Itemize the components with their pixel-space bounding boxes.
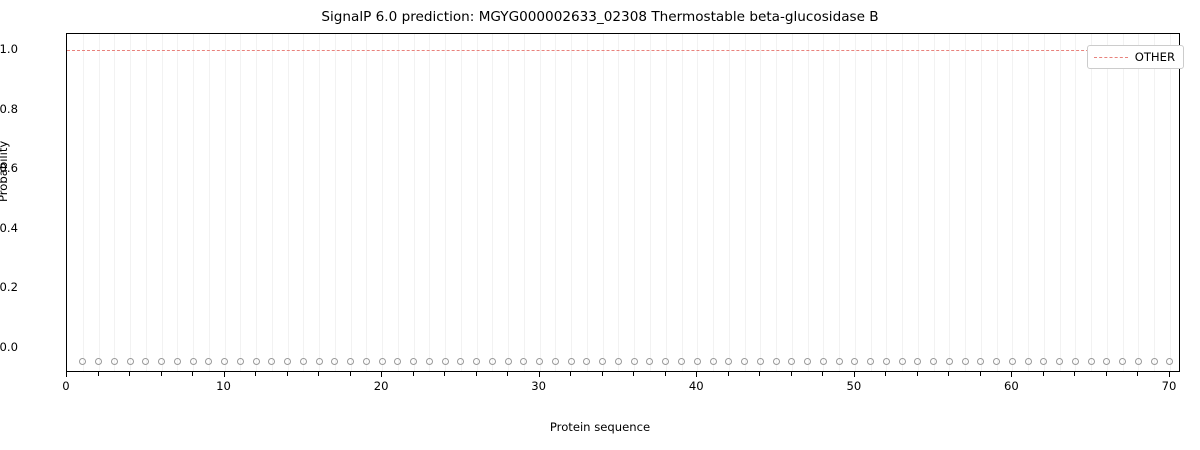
residue-marker xyxy=(489,358,496,365)
residue-letter: E xyxy=(189,369,196,372)
gridline xyxy=(1044,34,1045,371)
x-minor-tick xyxy=(822,372,823,376)
x-axis-label: Protein sequence xyxy=(0,420,1200,434)
gridline xyxy=(1154,34,1155,371)
gridline xyxy=(886,34,887,371)
residue-letter: D xyxy=(126,369,135,372)
gridline xyxy=(839,34,840,371)
gridline xyxy=(303,34,304,371)
residue-letter: M xyxy=(676,369,686,372)
residue-letter: A xyxy=(1056,369,1064,372)
residue-marker xyxy=(552,358,559,365)
residue-letter: S xyxy=(1166,369,1173,372)
residue-letter: D xyxy=(519,369,528,372)
residue-marker xyxy=(300,358,307,365)
residue-marker xyxy=(977,358,984,365)
gridline xyxy=(524,34,525,371)
gridline xyxy=(335,34,336,371)
residue-letter: T xyxy=(1072,369,1079,372)
signalp-prediction-figure: SignalP 6.0 prediction: MGYG000002633_02… xyxy=(0,0,1200,450)
gridline xyxy=(776,34,777,371)
residue-letter: G xyxy=(929,369,938,372)
residue-marker xyxy=(820,358,827,365)
gridline xyxy=(209,34,210,371)
gridline xyxy=(540,34,541,371)
gridline xyxy=(729,34,730,371)
residue-letter: E xyxy=(284,369,291,372)
residue-marker xyxy=(1025,358,1032,365)
residue-marker xyxy=(174,358,181,365)
residue-letter: H xyxy=(472,369,481,372)
gridline xyxy=(177,34,178,371)
gridline xyxy=(492,34,493,371)
y-tick-label: 0.8 xyxy=(0,102,18,116)
gridline xyxy=(1075,34,1076,371)
y-tick xyxy=(66,348,67,349)
x-minor-tick xyxy=(444,372,445,376)
residue-marker xyxy=(505,358,512,365)
x-minor-tick xyxy=(287,372,288,376)
residue-marker xyxy=(741,358,748,365)
gridline xyxy=(414,34,415,371)
x-tick xyxy=(1011,372,1012,377)
x-minor-tick xyxy=(791,372,792,376)
x-minor-tick xyxy=(318,372,319,376)
residue-marker xyxy=(1009,358,1016,365)
residue-letter: I xyxy=(963,369,966,372)
x-tick-label: 30 xyxy=(531,379,546,393)
gridline xyxy=(1107,34,1108,371)
residue-letter: P xyxy=(741,369,748,372)
gridline xyxy=(823,34,824,371)
residue-letter: H xyxy=(756,369,765,372)
residue-letter: K xyxy=(898,369,906,372)
gridline xyxy=(508,34,509,371)
residue-marker xyxy=(1135,358,1142,365)
residue-marker xyxy=(1056,358,1063,365)
residue-marker xyxy=(710,358,717,365)
gridline xyxy=(1123,34,1124,371)
gridline xyxy=(713,34,714,371)
residue-marker xyxy=(111,358,118,365)
gridline xyxy=(965,34,966,371)
residue-letter: D xyxy=(709,369,718,372)
residue-letter: I xyxy=(648,369,651,372)
gridline xyxy=(634,34,635,371)
gridline xyxy=(130,34,131,371)
x-minor-tick xyxy=(570,372,571,376)
residue-letter: C xyxy=(536,369,544,372)
gridline xyxy=(272,34,273,371)
x-minor-tick xyxy=(1043,372,1044,376)
residue-letter: P xyxy=(1119,369,1126,372)
x-minor-tick xyxy=(129,372,130,376)
y-tick-label: 0.0 xyxy=(0,340,18,354)
residue-marker xyxy=(457,358,464,365)
residue-marker xyxy=(631,358,638,365)
gridline xyxy=(477,34,478,371)
residue-marker xyxy=(316,358,323,365)
legend[interactable]: OTHER xyxy=(1087,45,1184,69)
residue-marker xyxy=(473,358,480,365)
x-tick-label: 0 xyxy=(62,379,69,393)
residue-marker xyxy=(253,358,260,365)
x-tick-label: 70 xyxy=(1162,379,1177,393)
gridline xyxy=(461,34,462,371)
x-minor-tick xyxy=(602,372,603,376)
gridline xyxy=(1170,34,1171,371)
residue-marker xyxy=(930,358,937,365)
residue-marker xyxy=(1088,358,1095,365)
gridline xyxy=(918,34,919,371)
x-minor-tick xyxy=(980,372,981,376)
residue-letter: G xyxy=(724,369,733,372)
residue-letter: P xyxy=(615,369,622,372)
gridline xyxy=(571,34,572,371)
residue-letter: G xyxy=(567,369,576,372)
residue-letter: E xyxy=(977,369,984,372)
residue-marker xyxy=(599,358,606,365)
residue-letter: Q xyxy=(866,369,875,372)
x-tick xyxy=(539,372,540,377)
residue-letter: V xyxy=(914,369,922,372)
residue-letter: T xyxy=(237,369,244,372)
residue-marker xyxy=(914,358,921,365)
residue-letter: K xyxy=(1024,369,1032,372)
gridline xyxy=(555,34,556,371)
residue-letter: Q xyxy=(204,369,213,372)
gridline xyxy=(697,34,698,371)
gridline xyxy=(618,34,619,371)
residue-letter: L xyxy=(347,369,353,372)
x-tick xyxy=(1169,372,1170,377)
gridline xyxy=(99,34,100,371)
residue-letter: A xyxy=(1150,369,1158,372)
x-minor-tick xyxy=(255,372,256,376)
other-probability-line xyxy=(67,50,1179,51)
gridline xyxy=(1060,34,1061,371)
gridline xyxy=(114,34,115,371)
residue-letter: G xyxy=(425,369,434,372)
gridline xyxy=(1091,34,1092,371)
gridline xyxy=(319,34,320,371)
x-minor-tick xyxy=(98,372,99,376)
chart-title: SignalP 6.0 prediction: MGYG000002633_02… xyxy=(0,9,1200,25)
gridline xyxy=(351,34,352,371)
gridline xyxy=(193,34,194,371)
x-minor-tick xyxy=(633,372,634,376)
y-tick xyxy=(66,229,67,230)
residue-marker xyxy=(221,358,228,365)
gridline xyxy=(288,34,289,371)
gridline xyxy=(256,34,257,371)
gridline xyxy=(981,34,982,371)
residue-marker xyxy=(190,358,197,365)
residue-letter: S xyxy=(631,369,638,372)
residue-letter: N xyxy=(551,369,560,372)
y-tick xyxy=(66,50,67,51)
x-tick xyxy=(66,372,67,377)
residue-marker xyxy=(836,358,843,365)
x-minor-tick xyxy=(759,372,760,376)
y-tick-label: 0.6 xyxy=(0,161,18,175)
residue-marker xyxy=(615,358,622,365)
gridline xyxy=(603,34,604,371)
x-minor-tick xyxy=(917,372,918,376)
gridline xyxy=(650,34,651,371)
x-tick xyxy=(854,372,855,377)
gridline xyxy=(871,34,872,371)
gridline xyxy=(760,34,761,371)
residue-letter: Y xyxy=(505,369,512,372)
residue-letter: L xyxy=(363,369,369,372)
gridline xyxy=(682,34,683,371)
x-minor-tick xyxy=(476,372,477,376)
x-minor-tick xyxy=(1137,372,1138,376)
residue-letter: R xyxy=(331,369,339,372)
gridline xyxy=(382,34,383,371)
residue-marker xyxy=(804,358,811,365)
residue-letter: R xyxy=(804,369,812,372)
residue-letter: K xyxy=(583,369,591,372)
residue-letter: T xyxy=(694,369,701,372)
residue-letter: L xyxy=(221,369,227,372)
residue-marker xyxy=(773,358,780,365)
gridline xyxy=(398,34,399,371)
y-tick xyxy=(66,288,67,289)
gridline xyxy=(1138,34,1139,371)
gridline xyxy=(429,34,430,371)
residue-marker xyxy=(442,358,449,365)
residue-marker xyxy=(725,358,732,365)
residue-letter: K xyxy=(300,369,308,372)
residue-marker xyxy=(158,358,165,365)
residue-letter: E xyxy=(851,369,858,372)
residue-marker xyxy=(331,358,338,365)
residue-marker xyxy=(962,358,969,365)
y-tick-label: 0.2 xyxy=(0,280,18,294)
residue-marker xyxy=(993,358,1000,365)
residue-letter: G xyxy=(772,369,781,372)
residue-marker xyxy=(788,358,795,365)
legend-label-other: OTHER xyxy=(1135,50,1175,64)
gridlines xyxy=(67,34,1179,371)
x-minor-tick xyxy=(728,372,729,376)
gridline xyxy=(949,34,950,371)
residue-letter: D xyxy=(945,369,954,372)
gridline xyxy=(445,34,446,371)
residue-marker xyxy=(1119,358,1126,365)
residue-letter: M xyxy=(661,369,671,372)
residue-letter: P xyxy=(1040,369,1047,372)
gridline xyxy=(855,34,856,371)
residue-letter: V xyxy=(410,369,418,372)
residue-marker xyxy=(394,358,401,365)
x-tick xyxy=(696,372,697,377)
gridline xyxy=(666,34,667,371)
x-tick-label: 10 xyxy=(216,379,231,393)
gridline xyxy=(902,34,903,371)
x-minor-tick xyxy=(161,372,162,376)
y-tick-label: 1.0 xyxy=(0,42,18,56)
residue-letter: S xyxy=(1009,369,1016,372)
gridline xyxy=(1012,34,1013,371)
residue-letter: F xyxy=(1104,369,1111,372)
residue-marker xyxy=(363,358,370,365)
gridline xyxy=(792,34,793,371)
residue-letter: T xyxy=(993,369,1000,372)
residue-marker xyxy=(410,358,417,365)
residue-marker xyxy=(867,358,874,365)
x-tick xyxy=(381,372,382,377)
residue-marker xyxy=(946,358,953,365)
residue-marker xyxy=(883,358,890,365)
residue-marker xyxy=(142,358,149,365)
residue-marker xyxy=(127,358,134,365)
legend-line-other-icon xyxy=(1094,57,1128,58)
residue-letter: K xyxy=(820,369,828,372)
gridline xyxy=(934,34,935,371)
residue-marker xyxy=(1072,358,1079,365)
gridline xyxy=(225,34,226,371)
residue-letter: N xyxy=(94,369,103,372)
y-tick xyxy=(66,110,67,111)
residue-marker xyxy=(95,358,102,365)
gridline xyxy=(587,34,588,371)
residue-marker xyxy=(1151,358,1158,365)
residue-marker xyxy=(426,358,433,365)
y-tick xyxy=(66,169,67,170)
gridline xyxy=(745,34,746,371)
x-minor-tick xyxy=(885,372,886,376)
x-minor-tick xyxy=(1106,372,1107,376)
x-tick-label: 50 xyxy=(846,379,861,393)
residue-letter: G xyxy=(378,369,387,372)
residue-marker xyxy=(899,358,906,365)
gridline xyxy=(162,34,163,371)
residue-letter: T xyxy=(489,369,496,372)
residue-letter: D xyxy=(267,369,276,372)
residue-letter: T xyxy=(1135,369,1142,372)
residue-letter: I xyxy=(113,369,116,372)
residue-letter: L xyxy=(836,369,842,372)
residue-marker xyxy=(851,358,858,365)
residue-letter: W xyxy=(455,369,466,372)
gridline xyxy=(997,34,998,371)
residue-marker xyxy=(79,358,86,365)
y-tick-label: 0.4 xyxy=(0,221,18,235)
residue-marker xyxy=(662,358,669,365)
residue-letter: C xyxy=(1087,369,1095,372)
residue-letter: G xyxy=(393,369,402,372)
x-minor-tick xyxy=(507,372,508,376)
x-minor-tick xyxy=(350,372,351,376)
residue-letter: K xyxy=(142,369,150,372)
residue-marker xyxy=(284,358,291,365)
gridline xyxy=(1028,34,1029,371)
residue-marker xyxy=(568,358,575,365)
gridline xyxy=(366,34,367,371)
residue-marker xyxy=(205,358,212,365)
gridline xyxy=(240,34,241,371)
plot-area: MNIDKICEQLTIDEKIRLLGGVGDWHTYDCNGKIPSIMMT… xyxy=(66,33,1180,372)
residue-marker xyxy=(347,358,354,365)
x-tick xyxy=(224,372,225,377)
residue-letter: D xyxy=(441,369,450,372)
x-minor-tick xyxy=(948,372,949,376)
residue-marker xyxy=(268,358,275,365)
gridline xyxy=(808,34,809,371)
x-tick-label: 40 xyxy=(689,379,704,393)
residue-marker xyxy=(757,358,764,365)
residue-marker xyxy=(1040,358,1047,365)
x-minor-tick xyxy=(413,372,414,376)
residue-letter: C xyxy=(173,369,181,372)
gridline xyxy=(146,34,147,371)
residue-letter: M xyxy=(78,369,88,372)
residue-marker xyxy=(237,358,244,365)
residue-marker xyxy=(694,358,701,365)
x-tick-label: 60 xyxy=(1004,379,1019,393)
residue-marker xyxy=(379,358,386,365)
residue-marker xyxy=(536,358,543,365)
x-minor-tick xyxy=(1074,372,1075,376)
x-minor-tick xyxy=(192,372,193,376)
x-tick-label: 20 xyxy=(374,379,389,393)
residue-marker xyxy=(678,358,685,365)
x-minor-tick xyxy=(665,372,666,376)
residue-letter: E xyxy=(883,369,890,372)
gridline xyxy=(83,34,84,371)
